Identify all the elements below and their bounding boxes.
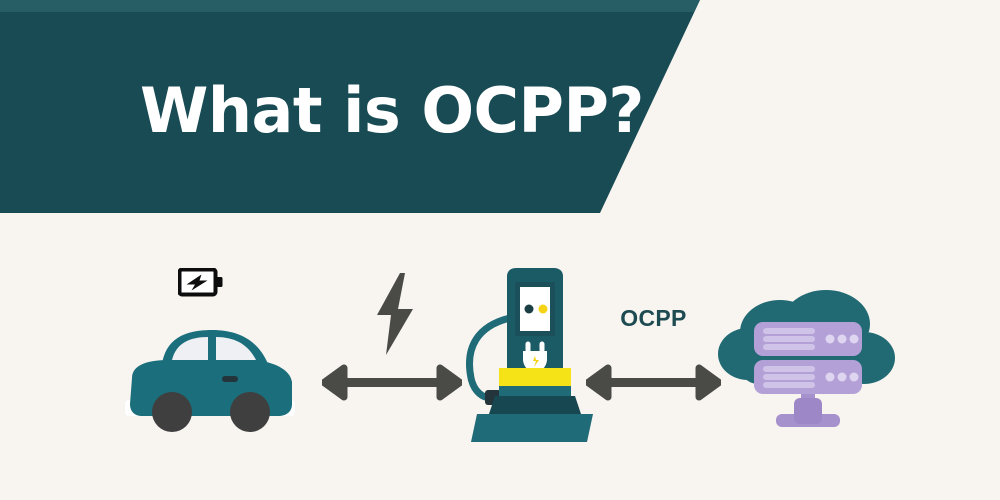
ocpp-infographic: What is OCPP? [0,0,1000,500]
banner-top-stripe [0,0,700,12]
ev-car-icon [120,316,300,441]
diagram-node-ev-car [120,268,300,438]
diagram-link-power [322,271,462,401]
ev-charging-station-icon [455,268,595,448]
lightning-bolt-icon [367,271,423,362]
battery-charging-icon [178,268,224,298]
diagram-scene: OCPP [0,213,1000,500]
cloud-server-icon [718,288,898,443]
diagram-node-charge-point [455,268,595,443]
double-headed-arrow-icon-power [322,363,462,408]
ocpp-link-label: OCPP [586,305,721,332]
diagram-link-ocpp: OCPP [586,305,721,400]
diagram-node-central-system [718,288,898,438]
page-title: What is OCPP? [140,76,644,146]
double-headed-arrow-icon-ocpp [586,363,721,408]
